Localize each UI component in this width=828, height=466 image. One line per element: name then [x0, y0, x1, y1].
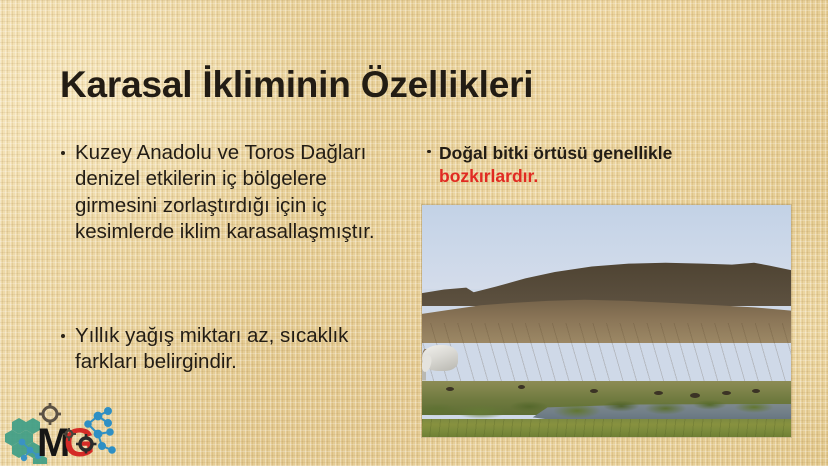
photo-meadow-grass-texture	[422, 419, 791, 437]
photo-grazing-animal	[752, 389, 760, 393]
photo-grazing-animal	[446, 387, 454, 391]
bullet-item: Yıllık yağış miktarı az, sıcaklık farkla…	[58, 323, 414, 376]
mg-logo: M G	[2, 402, 126, 464]
photo-reed-clumps	[422, 391, 791, 421]
slide-title: Karasal İkliminin Özellikleri	[60, 65, 780, 105]
photo-slope-erosion-lines	[422, 323, 791, 389]
photo-grazing-animal	[690, 393, 700, 398]
slide-canvas: Karasal İkliminin Özellikleri Kuzey Anad…	[0, 0, 828, 466]
bullet-item: Doğal bitki örtüsü genellikle bozkırlard…	[424, 142, 776, 188]
photo-grazing-animal	[590, 389, 598, 393]
left-content-column: Kuzey Anadolu ve Toros Dağları denizel e…	[58, 119, 414, 397]
photo-grazing-animal	[722, 391, 731, 395]
bullet-highlight-text: bozkırlardır.	[439, 166, 538, 186]
bullet-item: Kuzey Anadolu ve Toros Dağları denizel e…	[58, 140, 414, 246]
right-content-column: Doğal bitki örtüsü genellikle bozkırlard…	[424, 124, 776, 205]
photo-grazing-animal	[654, 391, 663, 395]
bullet-lead-text: Doğal bitki örtüsü genellikle	[439, 143, 672, 163]
steppe-landscape-photo	[422, 205, 791, 437]
photo-grazing-animal	[518, 385, 525, 389]
